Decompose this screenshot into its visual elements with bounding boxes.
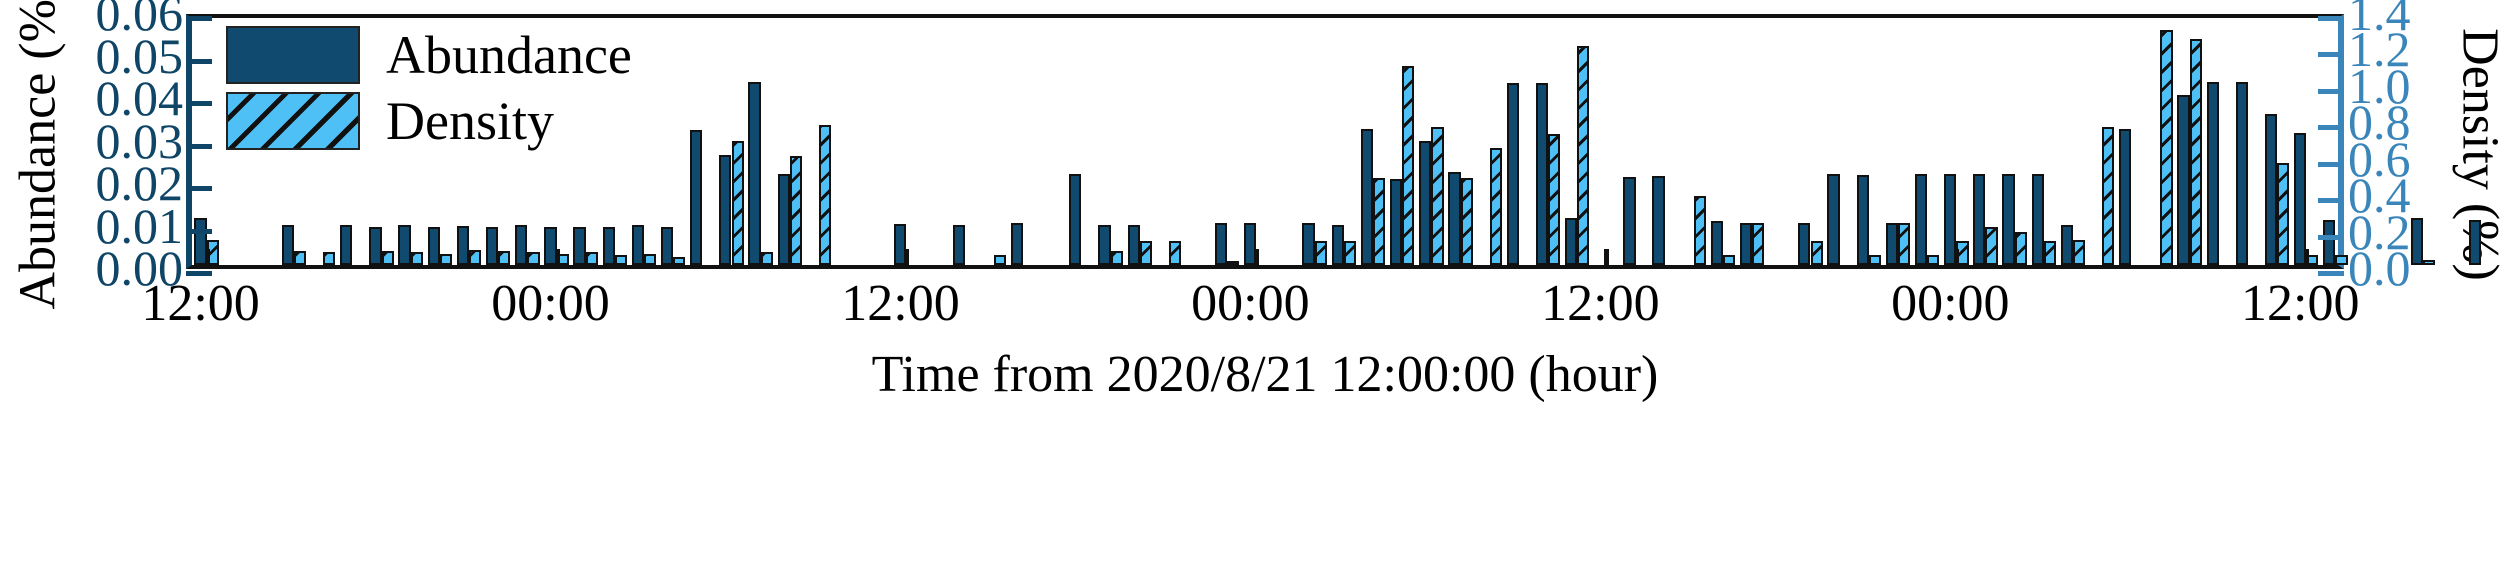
- bar-density: [1227, 261, 1239, 265]
- x-tick-2: 12:00: [841, 278, 959, 330]
- bar-abundance: [1361, 129, 1373, 265]
- bar-abundance: [1536, 83, 1548, 265]
- bar-density: [2044, 241, 2056, 265]
- x-tick-5: 00:00: [1891, 278, 2009, 330]
- bar-abundance: [778, 174, 790, 265]
- bar-abundance: [1711, 221, 1723, 265]
- bar-density: [527, 252, 539, 265]
- bar-abundance: [2236, 82, 2248, 265]
- bar-abundance: [2061, 225, 2073, 265]
- y-right-tickmark-3: [2318, 162, 2344, 167]
- bar-density: [1402, 66, 1414, 265]
- bar-density: [1490, 148, 1502, 265]
- bar-abundance: [953, 225, 965, 265]
- bar-abundance: [340, 225, 352, 265]
- bar-abundance: [2032, 174, 2044, 265]
- x-tick-6: 12:00: [2241, 278, 2359, 330]
- bar-density: [761, 252, 773, 265]
- bar-abundance: [1128, 225, 1140, 265]
- bar-abundance: [1302, 223, 1314, 265]
- bar-abundance: [1448, 172, 1460, 265]
- bar-abundance: [2265, 114, 2277, 265]
- bar-density: [819, 125, 831, 265]
- y-right-tickmark-1: [2318, 235, 2344, 240]
- y-right-tickmark-5: [2318, 89, 2344, 94]
- bar-abundance: [1623, 177, 1635, 265]
- bar-density: [2102, 127, 2114, 265]
- x-tickmark-0: [205, 249, 210, 269]
- x-tickmark-6: [2304, 249, 2309, 269]
- y-left-tickmark-2: [186, 186, 212, 191]
- x-tick-4: 12:00: [1541, 278, 1659, 330]
- x-axis-title: Time from 2020/8/21 12:00:00 (hour): [186, 345, 2344, 404]
- bar-abundance: [1827, 174, 1839, 265]
- x-tickmark-5: [1954, 249, 1959, 269]
- bar-abundance: [2469, 220, 2481, 265]
- bar-abundance: [486, 227, 498, 265]
- bar-abundance: [1740, 223, 1752, 266]
- bar-density: [1548, 134, 1560, 265]
- bar-abundance: [1098, 225, 1110, 265]
- bar-abundance: [1857, 175, 1869, 265]
- legend-item-abundance: Abundance: [226, 26, 632, 84]
- y-right-tickmark-7: [2318, 16, 2344, 21]
- bar-abundance: [1565, 218, 1577, 265]
- bar-density: [2277, 163, 2289, 265]
- bar-abundance: [1886, 223, 1898, 266]
- bar-density: [1985, 227, 1997, 265]
- bar-density: [2015, 232, 2027, 265]
- abundance-swatch-icon: [226, 26, 360, 84]
- bar-abundance: [2323, 220, 2335, 265]
- bar-density: [1869, 255, 1881, 265]
- bar-density: [411, 252, 423, 265]
- bar-density: [1169, 241, 1181, 265]
- bar-density: [790, 156, 802, 265]
- x-tick-1: 00:00: [491, 278, 609, 330]
- bar-density: [1431, 127, 1443, 265]
- bar-abundance: [282, 225, 294, 265]
- bar-abundance: [1652, 176, 1664, 265]
- bar-abundance: [632, 225, 644, 265]
- bar-density: [2190, 39, 2202, 265]
- bar-density: [2335, 255, 2347, 265]
- y-left-tickmark-1: [186, 229, 212, 234]
- bar-density: [1461, 178, 1473, 265]
- bar-density: [994, 255, 1006, 265]
- bar-density: [732, 141, 744, 265]
- bar-abundance: [428, 227, 440, 265]
- bar-density: [323, 252, 335, 265]
- bar-abundance: [2177, 95, 2189, 265]
- bar-density: [1811, 241, 1823, 265]
- bar-density: [2423, 260, 2435, 265]
- bar-density: [1315, 241, 1327, 265]
- bar-abundance: [2002, 174, 2014, 265]
- bar-density: [1752, 223, 1764, 265]
- bar-density: [1694, 196, 1706, 265]
- bar-density: [1140, 241, 1152, 265]
- bar-density: [440, 254, 452, 265]
- bar-abundance: [690, 130, 702, 265]
- bar-density: [294, 251, 306, 265]
- legend-label-abundance: Abundance: [386, 24, 632, 86]
- bar-density: [1723, 255, 1735, 265]
- bar-abundance: [2294, 133, 2306, 265]
- y-right-tickmark-4: [2318, 125, 2344, 130]
- bar-abundance: [603, 227, 615, 265]
- bar-abundance: [2411, 218, 2423, 265]
- x-tick-3: 00:00: [1191, 278, 1309, 330]
- bar-abundance: [1915, 174, 1927, 265]
- bar-abundance: [1011, 223, 1023, 265]
- x-tickmark-3: [1254, 249, 1259, 269]
- bar-abundance: [1332, 225, 1344, 265]
- bar-abundance: [457, 226, 469, 265]
- bar-density: [1373, 178, 1385, 265]
- bar-abundance: [1215, 223, 1227, 265]
- bar-abundance: [661, 227, 673, 265]
- y-left-tickmark-6: [186, 16, 212, 21]
- bar-abundance: [748, 82, 760, 265]
- y-left-tickmark-3: [186, 144, 212, 149]
- x-tickmark-4: [1604, 249, 1609, 269]
- bar-density: [615, 255, 627, 265]
- bar-abundance: [719, 155, 731, 265]
- y-right-tickmark-2: [2318, 198, 2344, 203]
- bar-density: [1344, 241, 1356, 265]
- x-tickmark-2: [904, 249, 909, 269]
- bar-density: [586, 252, 598, 265]
- bar-density: [382, 251, 394, 265]
- bar-density: [673, 257, 685, 265]
- chart-legend: Abundance Density: [226, 26, 646, 166]
- bar-abundance: [1798, 223, 1810, 265]
- bar-density: [1111, 251, 1123, 265]
- y-left-tick-6: 0.06: [96, 0, 184, 38]
- bar-abundance: [1507, 83, 1519, 265]
- bar-density: [1927, 255, 1939, 265]
- bar-abundance: [2119, 129, 2131, 265]
- x-axis-ticklabels: 12:0000:0012:0000:0012:0000:0012:00: [186, 278, 2344, 340]
- bar-abundance: [2207, 82, 2219, 265]
- bar-abundance: [398, 225, 410, 265]
- bar-abundance: [515, 225, 527, 265]
- bar-abundance: [1973, 174, 1985, 265]
- y-right-tick-7: 1.4: [2348, 0, 2411, 38]
- bar-abundance: [369, 227, 381, 265]
- bar-density: [644, 254, 656, 265]
- y-left-tickmark-4: [186, 101, 212, 106]
- x-tickmark-1: [555, 249, 560, 269]
- bar-density: [469, 250, 481, 265]
- bar-abundance: [573, 227, 585, 265]
- y-right-tickmark-6: [2318, 52, 2344, 57]
- legend-item-density: Density: [226, 92, 554, 150]
- bar-density: [498, 251, 510, 265]
- bar-density: [2073, 240, 2085, 266]
- bar-density: [2160, 30, 2172, 265]
- density-swatch-icon: [226, 92, 360, 150]
- legend-label-density: Density: [386, 90, 554, 152]
- y-left-tickmark-5: [186, 59, 212, 64]
- bar-abundance: [1419, 141, 1431, 265]
- x-tick-0: 12:00: [141, 278, 259, 330]
- bar-abundance: [1069, 174, 1081, 265]
- bar-density: [1898, 223, 1910, 265]
- y-axis-left-ticklabels: 0.000.010.020.030.040.050.06: [55, 0, 183, 290]
- bar-density: [1577, 46, 1589, 265]
- bar-abundance: [1390, 179, 1402, 265]
- chart-figure: Abundance (%) 0.000.010.020.030.040.050.…: [0, 0, 2500, 588]
